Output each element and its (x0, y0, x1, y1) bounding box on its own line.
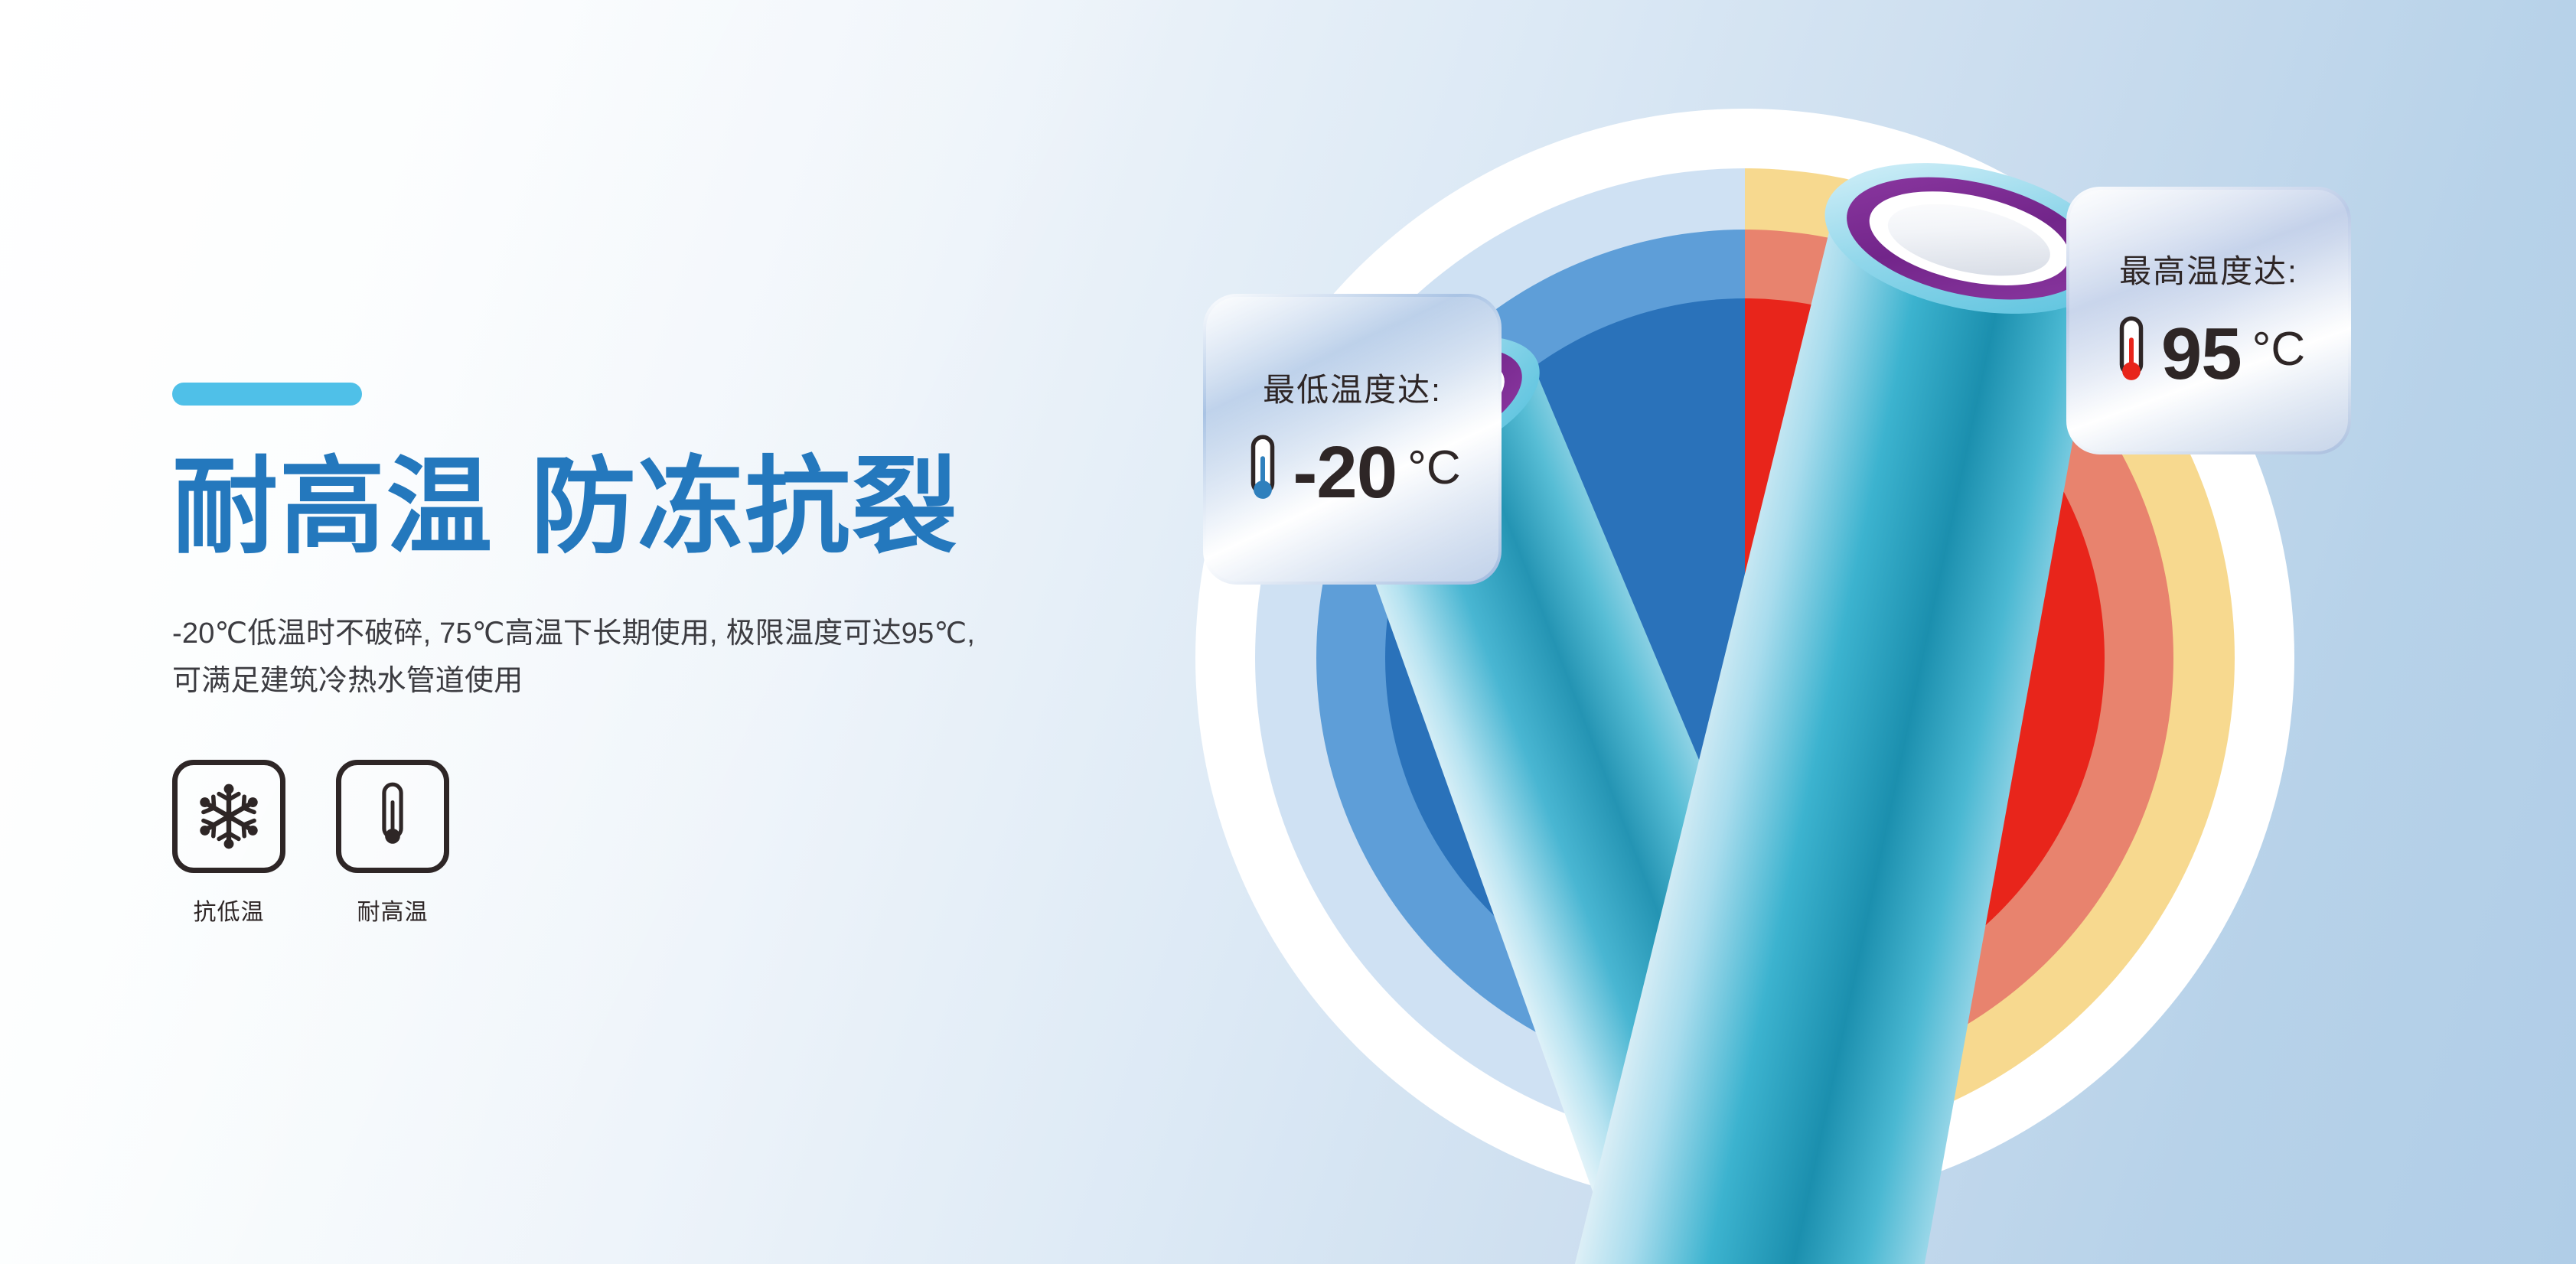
feature-box-cold (172, 760, 285, 873)
headline-part-2: 防冻抗裂 (530, 448, 959, 566)
low-temp-title: 最低温度达: (1263, 364, 1442, 411)
left-content-column: 耐高温防冻抗裂 -20℃低温时不破碎, 75℃高温下长期使用, 极限温度可达95… (172, 383, 1075, 927)
page-title: 耐高温防冻抗裂 (172, 454, 1075, 560)
feature-badge-list: 抗低温 耐高温 (172, 760, 1075, 927)
high-temp-value: 95 (2161, 318, 2242, 391)
headline-part-1: 耐高温 (172, 448, 494, 566)
description-line-2: 可满足建筑冷热水管道使用 (172, 658, 1014, 705)
description-text: -20℃低温时不破碎, 75℃高温下长期使用, 极限温度可达95℃, 可满足建筑… (172, 611, 1014, 705)
high-temperature-card: 最高温度达: 95 °C (2066, 187, 2351, 454)
thermometer-hot-icon (2112, 312, 2150, 396)
feature-label-heat: 耐高温 (336, 893, 449, 927)
ppr-pipe-illustration (1133, 0, 2576, 1264)
thermometer-cold-icon (1244, 431, 1282, 514)
feature-label-cold: 抗低温 (172, 893, 285, 927)
high-temp-title: 最高温度达: (2119, 246, 2298, 292)
promo-banner: 耐高温防冻抗裂 -20℃低温时不破碎, 75℃高温下长期使用, 极限温度可达95… (0, 0, 2576, 1264)
high-temp-unit: °C (2252, 326, 2306, 373)
feature-badge-heat: 耐高温 (336, 760, 449, 927)
low-temp-value: -20 (1293, 436, 1397, 510)
low-temp-unit: °C (1407, 445, 1461, 492)
snowflake-icon (194, 781, 264, 852)
description-line-1: -20℃低温时不破碎, 75℃高温下长期使用, 极限温度可达95℃, (172, 611, 1014, 658)
thermometer-icon (372, 780, 413, 853)
feature-badge-cold: 抗低温 (172, 760, 285, 927)
accent-bar (172, 383, 362, 406)
feature-box-heat (336, 760, 449, 873)
low-temperature-card: 最低温度达: -20 °C (1203, 294, 1502, 585)
